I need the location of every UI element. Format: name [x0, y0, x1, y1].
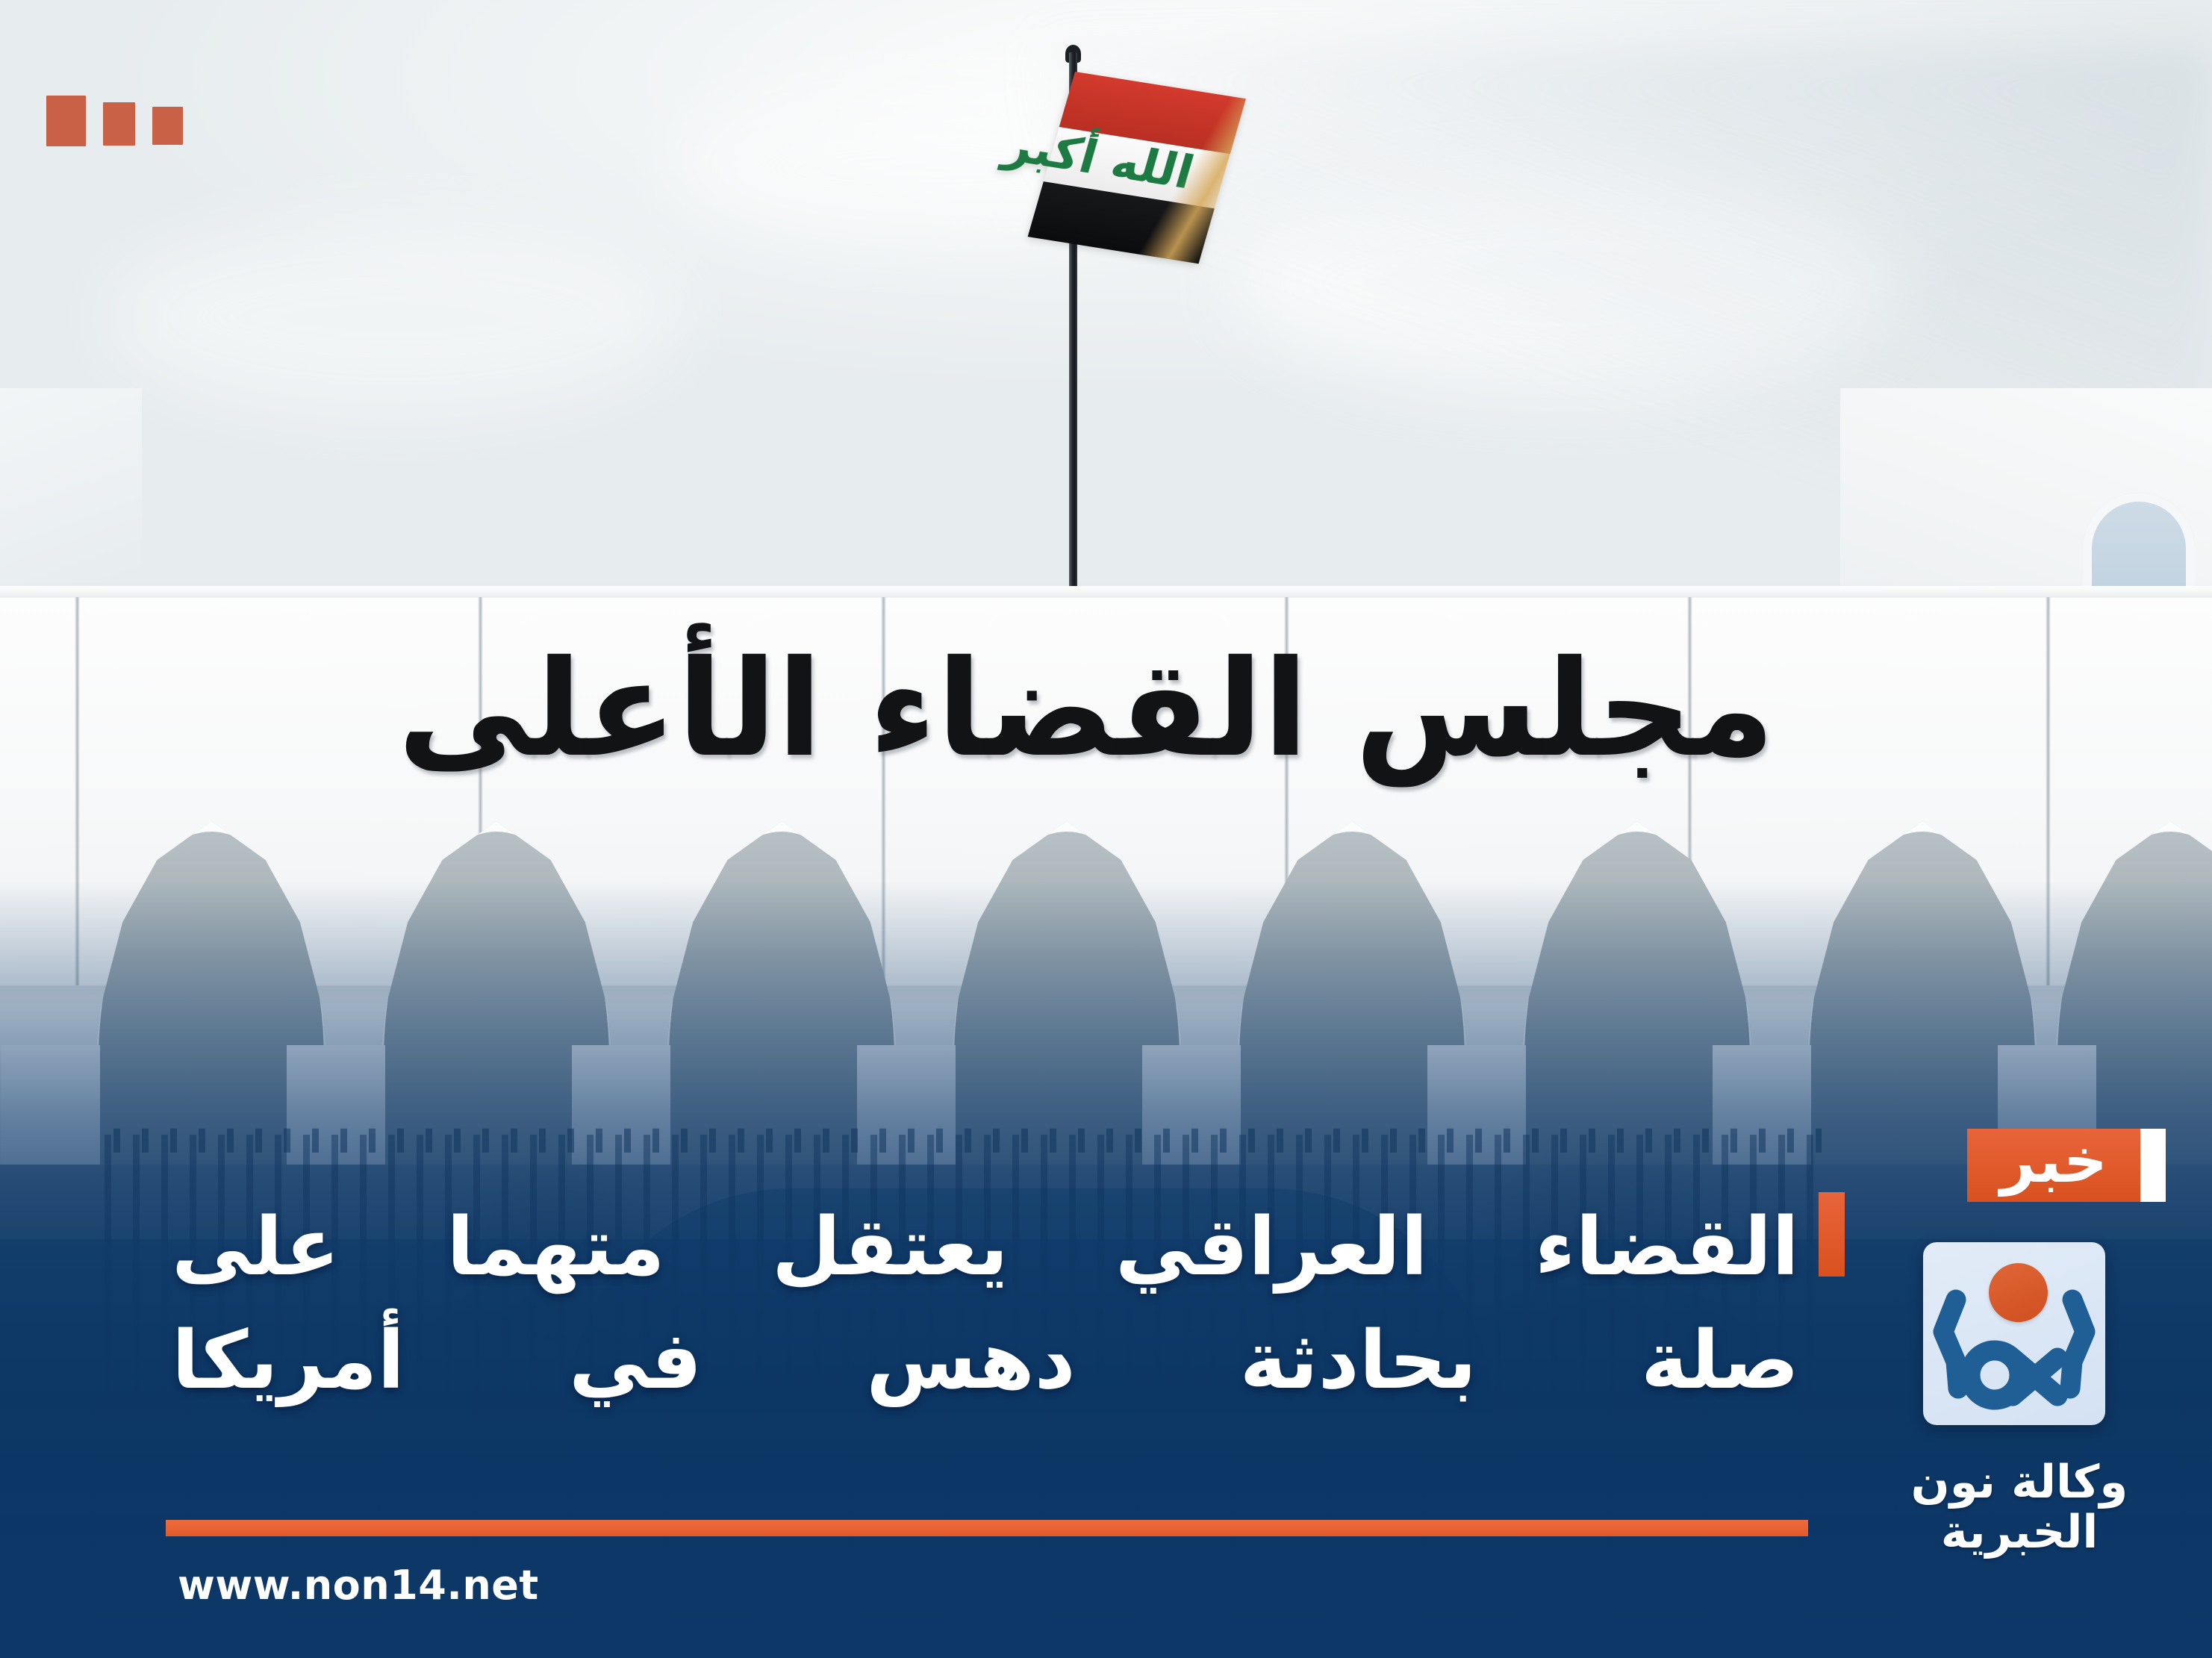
news-badge-label: خبر	[2000, 1131, 2107, 1192]
logo-noon-mark-icon	[1923, 1242, 2105, 1425]
headline-accent-bar	[1819, 1192, 1845, 1277]
three-bars-mark	[46, 96, 183, 146]
badge-tail	[2166, 1129, 2212, 1202]
badge-white-stripe	[2140, 1129, 2166, 1202]
headline-line-1: القضاء العراقي يعتقل متهما على	[172, 1191, 1799, 1305]
agency-name: وكالة نون الخبرية	[1844, 1457, 2195, 1557]
agency-logo	[1923, 1242, 2105, 1425]
mark-bar-3	[152, 107, 183, 145]
website-url[interactable]: www.non14.net	[178, 1562, 539, 1609]
headline: القضاء العراقي يعتقل متهما على صلة بحادث…	[172, 1191, 1799, 1418]
cloud	[112, 224, 679, 411]
mark-bar-1	[46, 96, 86, 146]
news-badge-row: خبر	[1967, 1129, 2212, 1202]
news-badge: خبر	[1967, 1129, 2140, 1202]
mark-bar-2	[103, 102, 135, 146]
headline-line-2: صلة بحادثة دهس في أمريكا	[172, 1305, 1799, 1418]
footer-rule	[166, 1520, 1808, 1536]
building-inscription: مجلس القضاء الأعلى	[485, 597, 1687, 821]
news-card: الله أكبر مجلس القضاء الأعلى	[0, 0, 2212, 1658]
